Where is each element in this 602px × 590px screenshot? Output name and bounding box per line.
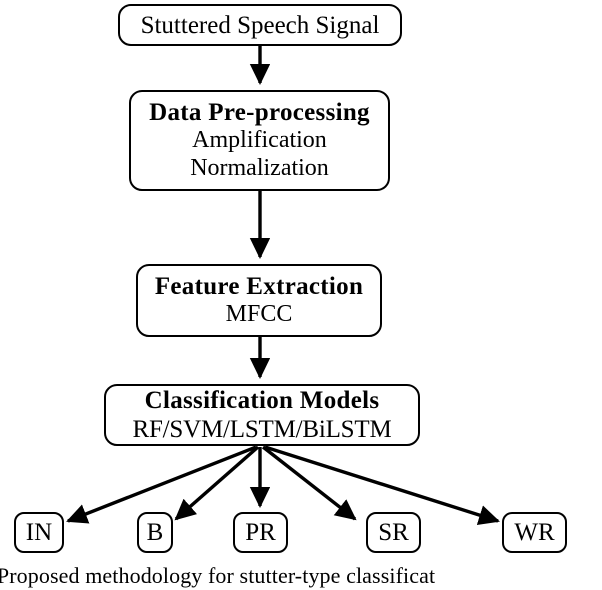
node-stuttered-speech-signal[interactable]: Stuttered Speech Signal xyxy=(118,4,402,46)
node-preprocessing-line-amplification: Amplification xyxy=(192,127,327,155)
node-classification-models[interactable]: Classification Models RF/SVM/LSTM/BiLSTM xyxy=(104,384,420,446)
node-classification-line-models: RF/SVM/LSTM/BiLSTM xyxy=(133,415,392,444)
node-data-preprocessing[interactable]: Data Pre-processing Amplification Normal… xyxy=(129,90,390,191)
node-classification-title: Classification Models xyxy=(145,386,380,415)
figure-caption: 2: Proposed methodology for stutter-type… xyxy=(0,562,602,590)
node-output-in-label: IN xyxy=(26,518,52,547)
node-output-in[interactable]: IN xyxy=(14,512,64,553)
node-output-wr-label: WR xyxy=(514,518,554,547)
node-feature-title: Feature Extraction xyxy=(155,272,363,301)
node-output-sr-label: SR xyxy=(378,518,409,547)
node-preprocessing-title: Data Pre-processing xyxy=(149,98,370,127)
node-output-b[interactable]: B xyxy=(137,512,173,553)
node-input-title: Stuttered Speech Signal xyxy=(141,11,380,40)
arrow-classification-to-sr xyxy=(263,447,355,519)
node-preprocessing-line-normalization: Normalization xyxy=(190,155,329,183)
arrow-classification-to-in xyxy=(68,447,256,521)
node-output-sr[interactable]: SR xyxy=(366,512,421,553)
node-output-pr-label: PR xyxy=(245,518,276,547)
node-output-wr[interactable]: WR xyxy=(502,512,567,553)
node-output-b-label: B xyxy=(147,518,164,547)
node-feature-extraction[interactable]: Feature Extraction MFCC xyxy=(136,264,382,337)
arrow-classification-to-wr xyxy=(265,447,498,521)
node-feature-line-mfcc: MFCC xyxy=(226,301,293,329)
node-output-pr[interactable]: PR xyxy=(233,512,288,553)
arrow-classification-to-b xyxy=(176,447,258,519)
methodology-flowchart: Stuttered Speech Signal Data Pre-process… xyxy=(0,0,602,590)
